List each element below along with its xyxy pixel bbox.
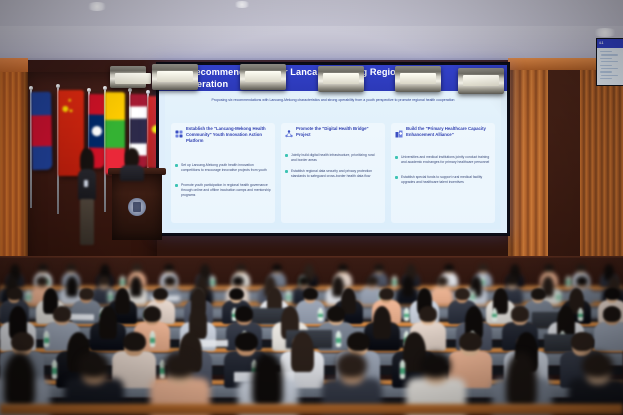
audience-hair bbox=[164, 264, 174, 272]
audience-hair bbox=[571, 332, 594, 351]
digital-network-icon bbox=[285, 130, 293, 138]
audience-hair bbox=[444, 264, 454, 272]
secondary-display-slide-number: 4.1 bbox=[599, 41, 603, 45]
audience-hair bbox=[4, 352, 35, 407]
ceiling-light-fixture bbox=[240, 64, 286, 90]
audience-hair bbox=[374, 264, 384, 272]
audience-hair bbox=[506, 352, 537, 407]
podium-emblem bbox=[128, 198, 146, 216]
audience-hair bbox=[366, 276, 378, 286]
audience-hair bbox=[232, 276, 244, 286]
bullet-marker bbox=[175, 164, 178, 167]
audience-hair bbox=[531, 288, 546, 300]
bullet-text: Set up Lancang-Mekong youth health innov… bbox=[181, 163, 271, 173]
audience-hair bbox=[66, 264, 76, 272]
ceiling-light-fixture bbox=[458, 68, 504, 94]
bullet-text: Promote youth participation in regional … bbox=[181, 183, 271, 198]
audience-hair bbox=[379, 288, 394, 300]
audience-hair bbox=[79, 288, 94, 300]
right-wood-slat-wall-far bbox=[580, 58, 623, 288]
bullet-text: Establish regional data security and pri… bbox=[291, 169, 381, 179]
audience-hair bbox=[98, 276, 110, 286]
presenter-badge bbox=[84, 180, 88, 187]
audience-hair bbox=[419, 306, 438, 322]
audience-hair bbox=[38, 264, 48, 272]
audience-hair bbox=[123, 332, 146, 351]
audience-hair bbox=[605, 288, 620, 300]
bottle-label bbox=[404, 314, 409, 317]
audience-hair bbox=[164, 352, 195, 378]
water-bottle bbox=[556, 292, 561, 302]
left-wood-pillar-top bbox=[0, 58, 28, 72]
audience-hair bbox=[576, 276, 588, 286]
slide-column-3: Build the "Primary Healthcare Capacity E… bbox=[391, 123, 495, 223]
hospital-building-icon bbox=[395, 130, 403, 138]
flag-pole-finial bbox=[56, 84, 60, 88]
secondary-display[interactable]: 4.1 bbox=[596, 38, 623, 86]
audience-hair bbox=[78, 352, 109, 378]
audience-hair bbox=[506, 276, 518, 286]
secondary-display-text-line bbox=[601, 75, 618, 76]
flag-pole-finial bbox=[29, 86, 33, 90]
audience-hair bbox=[436, 276, 448, 286]
flag-pole-finial bbox=[87, 88, 91, 92]
audience-hair bbox=[544, 264, 554, 272]
water-bottle bbox=[400, 362, 405, 379]
column-bullet: Promote youth participation in regional … bbox=[175, 183, 271, 198]
bottle-label bbox=[52, 368, 57, 373]
bullet-marker bbox=[285, 170, 288, 173]
column-heading: Build the "Primary Healthcare Capacity E… bbox=[406, 126, 490, 138]
bullet-marker bbox=[395, 156, 398, 159]
audience-hair bbox=[143, 306, 162, 322]
secondary-display-text-line bbox=[600, 71, 612, 72]
slide-column-1: Establish the "Lancang-Mekong Health Com… bbox=[171, 123, 275, 223]
audience-hair bbox=[132, 264, 142, 272]
audience-hair bbox=[53, 306, 72, 322]
flag-pole-finial bbox=[103, 86, 107, 90]
slide-subtitle: Proposing six recommendations with Lanca… bbox=[195, 98, 471, 103]
audience-hair bbox=[303, 288, 318, 300]
water-bottle bbox=[492, 310, 497, 321]
audience-hair bbox=[459, 332, 482, 351]
secondary-display-text-line bbox=[600, 65, 612, 66]
audience-hair bbox=[478, 264, 488, 272]
ceiling-spotlight bbox=[592, 28, 618, 37]
water-bottle bbox=[44, 333, 49, 347]
water-bottle bbox=[404, 310, 409, 321]
ceiling-light-fixture bbox=[395, 66, 441, 92]
bottle-label bbox=[400, 368, 405, 373]
water-bottle bbox=[52, 362, 57, 379]
speaking-presenter-at-podium bbox=[118, 148, 146, 178]
bullet-marker bbox=[175, 184, 178, 187]
audience-hair bbox=[338, 264, 348, 272]
audience-hair bbox=[236, 264, 246, 272]
community-platform-icon bbox=[175, 130, 183, 138]
ceiling bbox=[0, 0, 623, 64]
audience-hair bbox=[511, 306, 530, 322]
secondary-display-text-line bbox=[600, 51, 612, 52]
audience-hair bbox=[252, 352, 283, 407]
presenter-hair bbox=[125, 148, 139, 166]
secondary-display-title-bar: 4.1 bbox=[597, 39, 623, 48]
right-wall-dark-panel bbox=[548, 58, 580, 288]
flag-pole-finial bbox=[146, 90, 150, 94]
standing-presenter-left bbox=[74, 150, 100, 248]
column-bullet: Jointly build digital health infrastruct… bbox=[285, 153, 381, 163]
secondary-display-text-line bbox=[601, 54, 618, 55]
audience-hair bbox=[298, 276, 310, 286]
bullet-marker bbox=[285, 154, 288, 157]
bullet-text: Establish special funds to support rural… bbox=[401, 175, 491, 185]
audience-hair bbox=[347, 332, 370, 351]
ceiling-spotlight bbox=[86, 2, 108, 11]
bottle-label bbox=[44, 338, 49, 342]
column-heading: Establish the "Lancang-Mekong Health Com… bbox=[186, 126, 270, 145]
flag-cambodia bbox=[31, 92, 52, 170]
audience-hair bbox=[327, 306, 346, 322]
column-bullet: Establish special funds to support rural… bbox=[395, 175, 491, 185]
audience-hair bbox=[420, 352, 451, 378]
secondary-display-text-line bbox=[601, 61, 618, 62]
ceiling-spotlight bbox=[233, 1, 251, 8]
audience-hair bbox=[11, 332, 34, 351]
secondary-display-text-line bbox=[600, 58, 612, 59]
column-bullet: Establish regional data security and pri… bbox=[285, 169, 381, 179]
audience-hair bbox=[229, 288, 244, 300]
bottle-label bbox=[492, 314, 497, 317]
flag-pole-finial bbox=[128, 88, 132, 92]
column-bullet: Universities and medical institutions jo… bbox=[395, 155, 491, 165]
audience-hair bbox=[7, 288, 22, 300]
audience-hair bbox=[235, 332, 258, 351]
audience-hair bbox=[336, 352, 367, 378]
conference-hall-scene: 4.1 Recommendations for Lancang-Mekong R… bbox=[0, 0, 623, 415]
audience-hair bbox=[235, 306, 254, 322]
column-bullet: Set up Lancang-Mekong youth health innov… bbox=[175, 163, 271, 173]
bullet-text: Universities and medical institutions jo… bbox=[401, 155, 491, 165]
audience-hair bbox=[153, 288, 168, 300]
ceiling-light-fixture bbox=[110, 66, 146, 88]
foreground-desk-edge bbox=[0, 404, 623, 415]
audience-hair bbox=[272, 264, 282, 272]
column-heading: Promote the "Digital Health Bridge" Proj… bbox=[296, 126, 380, 138]
secondary-display-text-line bbox=[601, 68, 618, 69]
audience-hair bbox=[164, 276, 176, 286]
audience-hair bbox=[455, 288, 470, 300]
bullet-marker bbox=[395, 176, 398, 179]
bullet-text: Jointly build digital health infrastruct… bbox=[291, 153, 381, 163]
presenter-legs bbox=[80, 199, 94, 245]
left-wood-pillar bbox=[0, 58, 28, 288]
ceiling-light-fixture bbox=[318, 66, 364, 92]
ceiling-light-fixture bbox=[152, 64, 198, 90]
audience-hair bbox=[603, 306, 622, 322]
bottle-label bbox=[556, 296, 561, 299]
audience-hair bbox=[36, 276, 48, 286]
slide-column-2: Promote the "Digital Health Bridge" Proj… bbox=[281, 123, 385, 223]
secondary-display-text-line bbox=[600, 78, 612, 79]
audience-hair bbox=[576, 264, 586, 272]
speaker-podium bbox=[112, 174, 162, 240]
slide-body: Proposing six recommendations with Lanca… bbox=[165, 93, 501, 229]
ceiling-slope bbox=[0, 26, 623, 60]
audience-hair bbox=[582, 352, 613, 378]
presenter-torso bbox=[120, 165, 144, 181]
